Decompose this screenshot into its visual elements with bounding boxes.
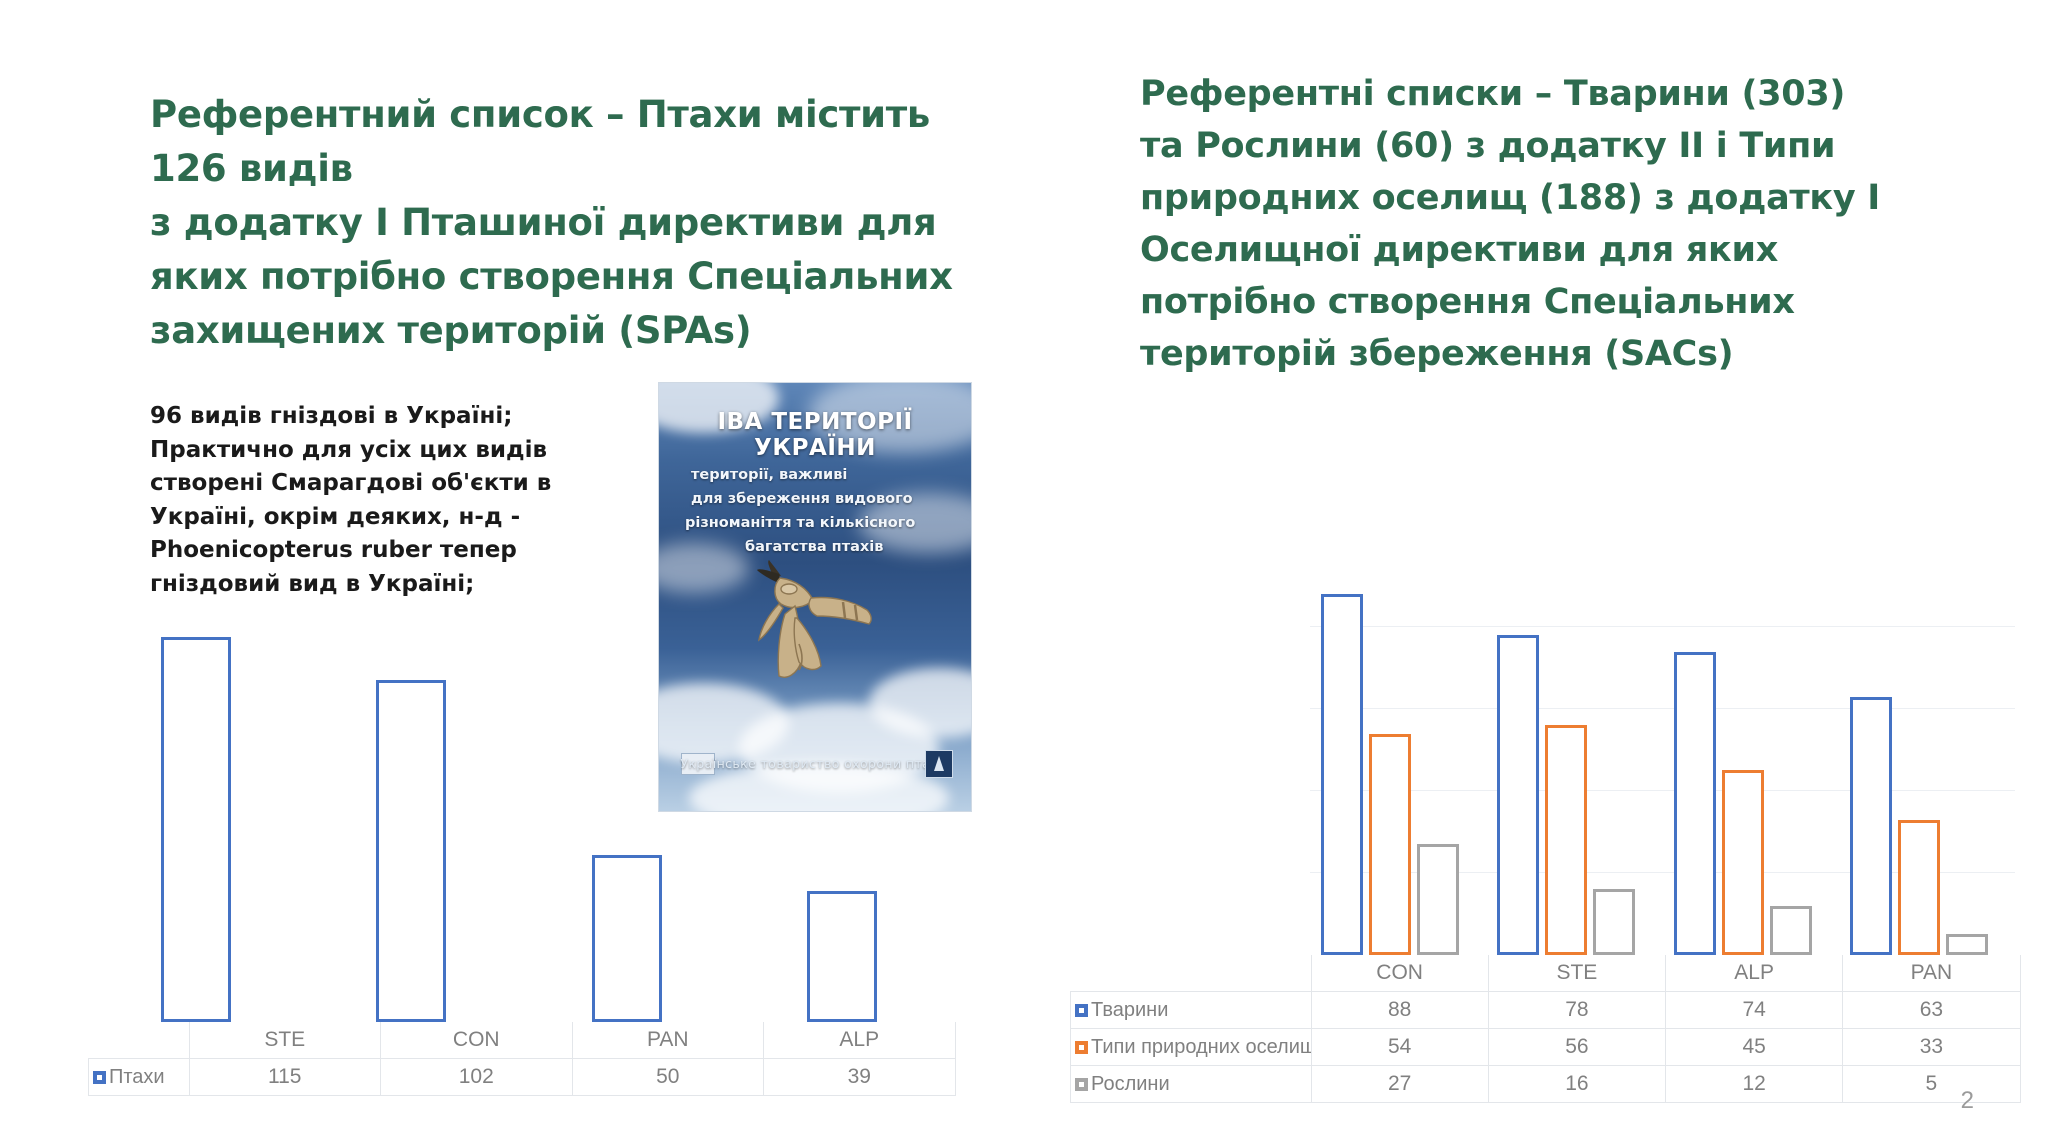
table-column-header: CON — [1311, 955, 1488, 992]
table-header-row: CONSTEALPPAN — [1071, 955, 2021, 992]
chart-bar — [1722, 770, 1764, 955]
title-left-line: захищених територій (SPAs) — [150, 304, 990, 358]
table-cell: 45 — [1666, 1029, 1843, 1066]
birds-data-table: STECONPANALPПтахи1151025039 — [88, 1022, 956, 1096]
table-legend-cell: Тварини — [1071, 992, 1312, 1029]
legend-label: Рослини — [1091, 1073, 1170, 1095]
chart-gridline — [1310, 790, 2015, 791]
table-header-row: STECONPANALP — [89, 1022, 956, 1059]
table-row: Типи природних оселищ54564533 — [1071, 1029, 2021, 1066]
chart-bar — [161, 637, 231, 1022]
chart-gridline — [1310, 708, 2015, 709]
chart-gridline — [1310, 626, 2015, 627]
table-cell: 78 — [1488, 992, 1665, 1029]
chart-bar — [1545, 725, 1587, 955]
table-row: Рослини2716125 — [1071, 1066, 2021, 1103]
table-legend-cell: Птахи — [89, 1059, 190, 1096]
page-title-left: Референтний список – Птахи містить 126 в… — [150, 88, 990, 358]
table-cell: 63 — [1843, 992, 2020, 1029]
table-column-header: CON — [381, 1022, 573, 1059]
book-cover-subtitle-line: території, важливі — [685, 463, 953, 487]
table-cell: 88 — [1311, 992, 1488, 1029]
chart-bar — [1674, 652, 1716, 955]
body-left-line: Практично для усіх цих видів — [150, 434, 560, 468]
book-cover-subtitle-line: різноманіття та кількісного — [685, 511, 953, 535]
chart-bar — [807, 891, 877, 1022]
table-column-header: ALP — [1666, 955, 1843, 992]
chart-bar — [1369, 734, 1411, 955]
table-row: Тварини88787463 — [1071, 992, 2021, 1029]
chart-bar — [592, 855, 662, 1022]
table-cell: 115 — [189, 1059, 381, 1096]
table-column-header: PAN — [1843, 955, 2020, 992]
table-row: Птахи1151025039 — [89, 1059, 956, 1096]
table-column-header: ALP — [764, 1022, 956, 1059]
table-corner-cell — [1071, 955, 1312, 992]
table-cell: 16 — [1488, 1066, 1665, 1103]
book-cover-subtitle-line: для збереження видового — [685, 487, 953, 511]
title-right-line: територій збереження (SACs) — [1140, 328, 1950, 380]
title-left-line: яких потрібно створення Спеціальних — [150, 250, 990, 304]
chart-bar — [1850, 697, 1892, 955]
flying-bird-icon — [739, 558, 899, 718]
table-cell: 27 — [1311, 1066, 1488, 1103]
table-cell: 50 — [572, 1059, 764, 1096]
chart-bar — [1417, 844, 1459, 955]
title-right-line: та Рослини (60) з додатку II і Типи — [1140, 120, 1950, 172]
table-cell: 5 — [1843, 1066, 2020, 1103]
publisher-logo-right — [925, 750, 953, 778]
chart-bar — [1898, 820, 1940, 955]
table-cell: 39 — [764, 1059, 956, 1096]
table-column-header: STE — [1488, 955, 1665, 992]
body-left-line: створені Смарагдові об'єкти в — [150, 467, 560, 501]
legend-swatch-icon — [93, 1071, 106, 1084]
body-left-line: Phoenicopterus ruber тепер — [150, 534, 560, 568]
table-cell: 33 — [1843, 1029, 2020, 1066]
legend-swatch-icon — [1075, 1004, 1088, 1017]
page-number: 2 — [1961, 1087, 1974, 1115]
chart-bar — [1593, 889, 1635, 955]
book-cover-subtitle: території, важливі для збереження видово… — [685, 463, 953, 559]
legend-swatch-icon — [1075, 1078, 1088, 1091]
species-habitats-chart — [1310, 545, 2015, 955]
table-cell: 54 — [1311, 1029, 1488, 1066]
chart-bar — [1497, 635, 1539, 955]
species-habitats-chart-plot — [1310, 545, 2015, 955]
table-corner-cell — [89, 1022, 190, 1059]
title-right-line: потрібно створення Спеціальних — [1140, 276, 1950, 328]
table-cell: 56 — [1488, 1029, 1665, 1066]
chart-bar — [1946, 934, 1988, 955]
title-left-line: з додатку I Пташиної директиви для — [150, 196, 990, 250]
table-cell: 74 — [1666, 992, 1843, 1029]
chart-bar — [376, 680, 446, 1022]
title-left-line: 126 видів — [150, 142, 990, 196]
table-column-header: STE — [189, 1022, 381, 1059]
title-left-line: Референтний список – Птахи містить — [150, 88, 990, 142]
table-cell: 12 — [1666, 1066, 1843, 1103]
legend-swatch-icon — [1075, 1041, 1088, 1054]
chart-bar — [1321, 594, 1363, 955]
table-column-header: PAN — [572, 1022, 764, 1059]
book-cover-subtitle-line: багатства птахів — [685, 535, 953, 559]
title-right-line: Референтні списки – Тварини (303) — [1140, 68, 1950, 120]
body-left-line: 96 видів гніздові в Україні; — [150, 400, 560, 434]
body-left-line: Україні, окрім деяких, н-д - — [150, 501, 560, 535]
title-right-line: Оселищної директиви для яких — [1140, 224, 1950, 276]
book-cover-title: ІВА ТЕРИТОРІЇ УКРАЇНИ — [659, 409, 971, 461]
table-legend-cell: Рослини — [1071, 1066, 1312, 1103]
slide: Референтний список – Птахи містить 126 в… — [0, 0, 2048, 1145]
title-right-line: природних оселищ (188) з додатку I — [1140, 172, 1950, 224]
table-cell: 102 — [381, 1059, 573, 1096]
species-habitats-data-table: CONSTEALPPANТварини88787463Типи природни… — [1070, 955, 2021, 1103]
legend-label: Тварини — [1091, 999, 1168, 1021]
chart-bar — [1770, 906, 1812, 955]
body-text-left: 96 видів гніздові в Україні; Практично д… — [150, 400, 560, 601]
legend-label: Птахи — [109, 1066, 165, 1088]
table-legend-cell: Типи природних оселищ — [1071, 1029, 1312, 1066]
body-left-line: гніздовий вид в Україні; — [150, 568, 560, 602]
page-title-right: Референтні списки – Тварини (303) та Рос… — [1140, 68, 1950, 380]
legend-label: Типи природних оселищ — [1091, 1036, 1311, 1058]
